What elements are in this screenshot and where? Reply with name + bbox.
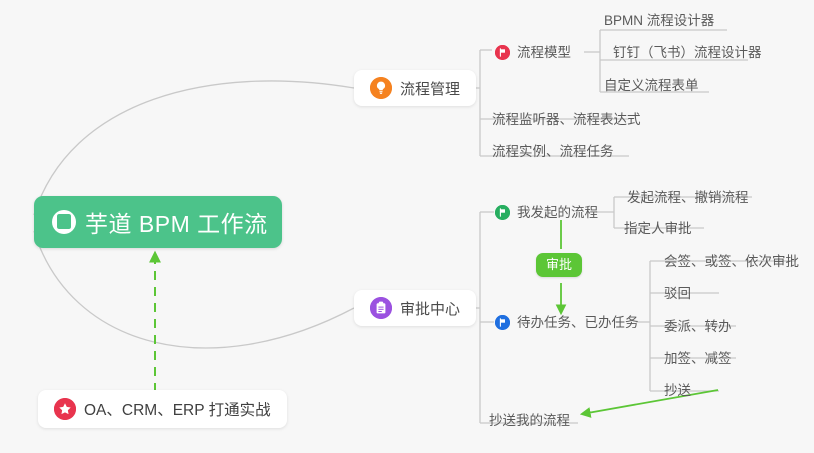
- flag-icon: [495, 315, 510, 330]
- leaf-dingtalk-designer[interactable]: 钉钉（飞书）流程设计器: [613, 46, 762, 60]
- leaf-countersign[interactable]: 会签、或签、依次审批: [664, 255, 799, 269]
- leaf-label: 我发起的流程: [517, 206, 598, 220]
- leaf-instance-task[interactable]: 流程实例、流程任务: [492, 145, 614, 159]
- root-label: 芋道 BPM 工作流: [85, 205, 268, 239]
- lightbulb-icon: [370, 77, 392, 99]
- leaf-delegate-transfer[interactable]: 委派、转办: [664, 320, 732, 334]
- leaf-listener-expression[interactable]: 流程监听器、流程表达式: [492, 113, 641, 127]
- approval-badge[interactable]: 审批: [536, 253, 582, 277]
- leaf-todo-done-tasks[interactable]: 待办任务、已办任务: [495, 315, 639, 330]
- leaf-my-initiated-process[interactable]: 我发起的流程: [495, 205, 598, 220]
- leaf-cc-to-me[interactable]: 抄送我的流程: [489, 414, 570, 428]
- flag-icon: [495, 45, 510, 60]
- bottom-note-node[interactable]: OA、CRM、ERP 打通实战: [38, 390, 287, 428]
- root-node[interactable]: 芋道 BPM 工作流: [34, 196, 282, 248]
- leaf-label: 待办任务、已办任务: [517, 316, 639, 330]
- leaf-designated-approval[interactable]: 指定人审批: [624, 222, 692, 236]
- flag-icon: [495, 205, 510, 220]
- leaf-add-remove-sign[interactable]: 加签、减签: [664, 352, 732, 366]
- leaf-label: 流程模型: [517, 46, 571, 60]
- branch-node-process-management[interactable]: 流程管理: [354, 70, 476, 106]
- leaf-cc[interactable]: 抄送: [664, 384, 691, 398]
- mindmap-canvas[interactable]: 芋道 BPM 工作流 流程管理 流程模型 BPMN 流程设计器 钉钉（飞书）流程…: [0, 0, 814, 453]
- branch-node-approval-center[interactable]: 审批中心: [354, 290, 476, 326]
- leaf-reject[interactable]: 驳回: [664, 287, 691, 301]
- bottom-note-label: OA、CRM、ERP 打通实战: [84, 398, 271, 420]
- clipboard-icon: [370, 297, 392, 319]
- leaf-bpmn-designer[interactable]: BPMN 流程设计器: [604, 14, 714, 28]
- thumbs-up-icon: [52, 210, 76, 234]
- leaf-custom-form[interactable]: 自定义流程表单: [604, 79, 699, 93]
- leaf-start-cancel-process[interactable]: 发起流程、撤销流程: [627, 191, 749, 205]
- leaf-process-model[interactable]: 流程模型: [495, 45, 571, 60]
- branch-label: 流程管理: [400, 78, 460, 99]
- branch-label: 审批中心: [400, 298, 460, 319]
- star-icon: [54, 398, 76, 420]
